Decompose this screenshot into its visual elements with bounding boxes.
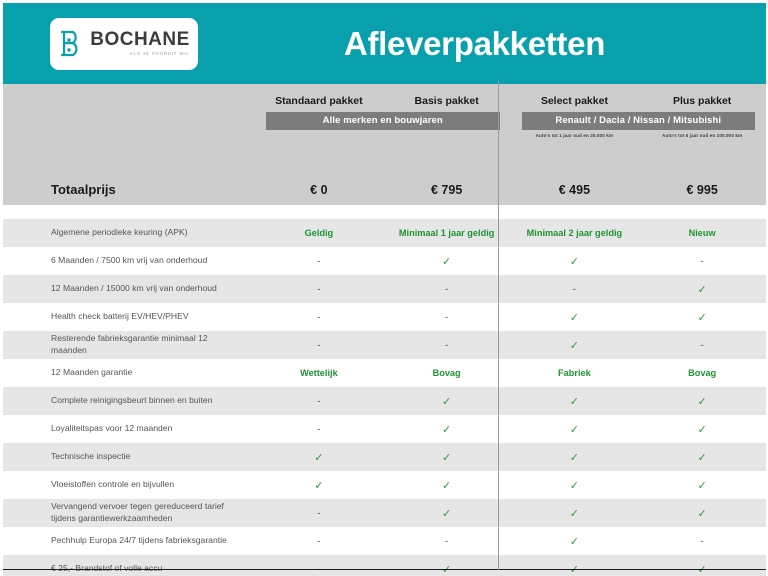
cell-value: - bbox=[255, 508, 383, 518]
cell-value: - bbox=[511, 284, 639, 294]
total-price-standaard: € 0 bbox=[255, 183, 383, 197]
table-row: 12 Maanden / 15000 km vrij van onderhoud… bbox=[3, 275, 766, 303]
cell-value: ✓ bbox=[638, 479, 766, 492]
cell-value: - bbox=[255, 424, 383, 434]
column-header-standaard: Standaard pakket bbox=[255, 95, 383, 107]
table-row: Algemene periodieke keuring (APK)GeldigM… bbox=[3, 219, 766, 247]
column-header-plus: Plus pakket bbox=[638, 95, 766, 107]
cell-value: ✓ bbox=[638, 395, 766, 408]
cell-value: ✓ bbox=[511, 255, 639, 268]
cell-value: ✓ bbox=[511, 507, 639, 520]
cell-value: - bbox=[255, 536, 383, 546]
cell-value: Fabriek bbox=[511, 368, 639, 378]
page-title: Afleverpakketten bbox=[3, 25, 766, 63]
cell-value: ✓ bbox=[383, 507, 511, 520]
cell-value: ✓ bbox=[511, 423, 639, 436]
cell-value: ✓ bbox=[511, 339, 639, 352]
spacer bbox=[3, 205, 766, 219]
cell-value: ✓ bbox=[511, 311, 639, 324]
cell-value: ✓ bbox=[383, 423, 511, 436]
cell-value: ✓ bbox=[511, 479, 639, 492]
row-label: Vervangend vervoer tegen gereduceerd tar… bbox=[3, 501, 255, 524]
row-label: 6 Maanden / 7500 km vrij van onderhoud bbox=[3, 255, 255, 267]
cell-value: ✓ bbox=[638, 423, 766, 436]
cell-value: ✓ bbox=[255, 479, 383, 492]
cell-value: - bbox=[383, 312, 511, 322]
cell-value: - bbox=[638, 256, 766, 266]
group-banner-left: Alle merken en bouwjaren bbox=[266, 112, 500, 130]
table-row: 12 Maanden garantieWettelijkBovagFabriek… bbox=[3, 359, 766, 387]
afleverpakketten-page: BOCHANE ALS JE VOORUIT WIL Afleverpakket… bbox=[0, 0, 768, 576]
cell-value: ✓ bbox=[638, 311, 766, 324]
row-label: Resterende fabrieksgarantie minimaal 12 … bbox=[3, 333, 255, 356]
feature-comparison-table: Algemene periodieke keuring (APK)GeldigM… bbox=[3, 219, 766, 576]
table-row: Complete reinigingsbeurt binnen en buite… bbox=[3, 387, 766, 415]
cell-value: Bovag bbox=[638, 368, 766, 378]
group-banner-right: Renault / Dacia / Nissan / Mitsubishi bbox=[522, 112, 756, 130]
cell-value: ✓ bbox=[383, 255, 511, 268]
column-subtitle-plus: Auto's tot 5 jaar oud en 100.000 km bbox=[638, 133, 766, 138]
row-label: Algemene periodieke keuring (APK) bbox=[3, 227, 255, 239]
cell-value: ✓ bbox=[383, 451, 511, 464]
cell-value: ✓ bbox=[638, 451, 766, 464]
column-header-select: Select pakket bbox=[511, 95, 639, 107]
total-price-label: Totaalprijs bbox=[3, 182, 255, 197]
cell-value: - bbox=[255, 284, 383, 294]
cell-value: ✓ bbox=[511, 451, 639, 464]
row-label: Loyaliteitspas voor 12 maanden bbox=[3, 423, 255, 435]
cell-value: - bbox=[255, 340, 383, 350]
cell-value: - bbox=[638, 340, 766, 350]
cell-value: - bbox=[383, 284, 511, 294]
table-row: Resterende fabrieksgarantie minimaal 12 … bbox=[3, 331, 766, 359]
cell-value: ✓ bbox=[638, 283, 766, 296]
total-price-basis: € 795 bbox=[383, 183, 511, 197]
table-row: Vloeistoffen controle en bijvullen✓✓✓✓ bbox=[3, 471, 766, 499]
cell-value: - bbox=[255, 396, 383, 406]
row-label: Complete reinigingsbeurt binnen en buite… bbox=[3, 395, 255, 407]
cell-value: ✓ bbox=[638, 507, 766, 520]
cell-value: ✓ bbox=[511, 535, 639, 548]
cell-value: ✓ bbox=[511, 395, 639, 408]
cell-value: Wettelijk bbox=[255, 368, 383, 378]
package-header-band: Standaard pakket Basis pakket Alle merke… bbox=[3, 84, 766, 174]
cell-value: ✓ bbox=[383, 395, 511, 408]
column-subtitle-select: Auto's tot 1 jaar oud en 20.000 km bbox=[511, 133, 639, 138]
total-price-plus: € 995 bbox=[638, 183, 766, 197]
cell-value: - bbox=[383, 340, 511, 350]
table-row: Health check batterij EV/HEV/PHEV--✓✓ bbox=[3, 303, 766, 331]
cell-value: Bovag bbox=[383, 368, 511, 378]
cell-value: - bbox=[255, 312, 383, 322]
table-row: Technische inspectie✓✓✓✓ bbox=[3, 443, 766, 471]
cell-value: Minimaal 2 jaar geldig bbox=[511, 228, 639, 238]
row-label: Pechhulp Europa 24/7 tijdens fabrieksgar… bbox=[3, 535, 255, 547]
table-row: Vervangend vervoer tegen gereduceerd tar… bbox=[3, 499, 766, 527]
cell-value: - bbox=[383, 536, 511, 546]
row-label: 12 Maanden garantie bbox=[3, 367, 255, 379]
row-label: 12 Maanden / 15000 km vrij van onderhoud bbox=[3, 283, 255, 295]
cell-value: Minimaal 1 jaar geldig bbox=[383, 228, 511, 238]
row-label: Technische inspectie bbox=[3, 451, 255, 463]
cell-value: Nieuw bbox=[638, 228, 766, 238]
package-group-right: Select pakket Plus pakket Renault / Daci… bbox=[511, 84, 767, 174]
cell-value: Geldig bbox=[255, 228, 383, 238]
page-header: BOCHANE ALS JE VOORUIT WIL Afleverpakket… bbox=[3, 3, 766, 84]
cell-value: - bbox=[255, 256, 383, 266]
row-label: Vloeistoffen controle en bijvullen bbox=[3, 479, 255, 491]
label-column-spacer bbox=[3, 84, 255, 174]
package-group-left: Standaard pakket Basis pakket Alle merke… bbox=[255, 84, 511, 174]
cell-value: ✓ bbox=[383, 479, 511, 492]
table-row: € 25,- Brandstof of volle accu-✓✓✓ bbox=[3, 555, 766, 576]
table-row: 6 Maanden / 7500 km vrij van onderhoud-✓… bbox=[3, 247, 766, 275]
cell-value: - bbox=[638, 536, 766, 546]
cell-value: ✓ bbox=[255, 451, 383, 464]
table-row: Pechhulp Europa 24/7 tijdens fabrieksgar… bbox=[3, 527, 766, 555]
column-header-basis: Basis pakket bbox=[383, 95, 511, 107]
total-price-select: € 495 bbox=[511, 183, 639, 197]
row-label: Health check batterij EV/HEV/PHEV bbox=[3, 311, 255, 323]
bottom-rule bbox=[3, 569, 766, 571]
total-price-row: Totaalprijs € 0 € 795 € 495 € 995 bbox=[3, 174, 766, 205]
group-divider bbox=[498, 81, 499, 570]
table-row: Loyaliteitspas voor 12 maanden-✓✓✓ bbox=[3, 415, 766, 443]
